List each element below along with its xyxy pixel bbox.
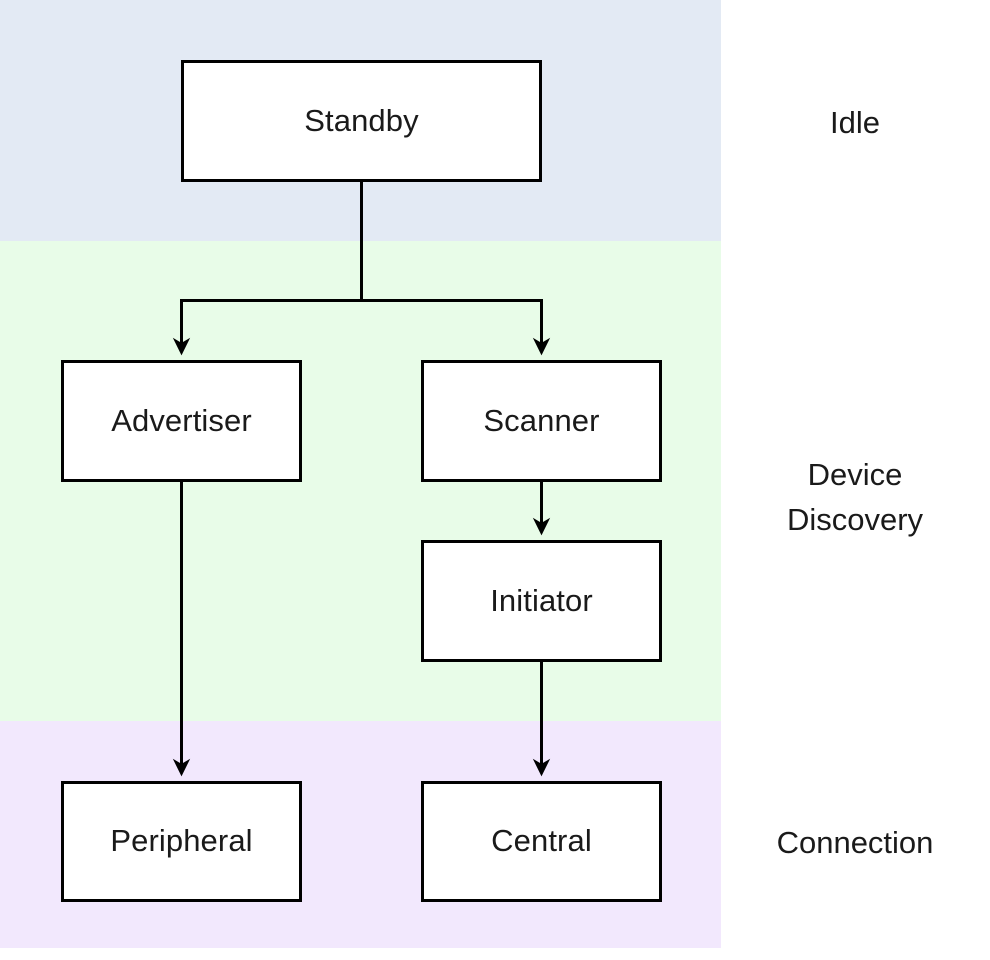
node-standby[interactable]: Standby: [181, 60, 542, 182]
phase-label-idle: Idle: [720, 101, 990, 146]
node-initiator[interactable]: Initiator: [421, 540, 662, 662]
node-central[interactable]: Central: [421, 781, 662, 902]
node-central-label: Central: [491, 824, 592, 858]
node-standby-label: Standby: [304, 104, 418, 138]
node-scanner[interactable]: Scanner: [421, 360, 662, 482]
node-peripheral-label: Peripheral: [110, 824, 252, 858]
node-advertiser-label: Advertiser: [111, 404, 252, 438]
node-peripheral[interactable]: Peripheral: [61, 781, 302, 902]
phase-label-idle-text: Idle: [830, 105, 880, 140]
phase-label-connection: Connection: [720, 821, 990, 866]
phase-label-device-discovery: Device Discovery: [720, 453, 990, 543]
phase-label-device-discovery-line1: Device: [808, 457, 903, 492]
node-scanner-label: Scanner: [483, 404, 599, 438]
node-advertiser[interactable]: Advertiser: [61, 360, 302, 482]
phase-label-connection-text: Connection: [777, 825, 934, 860]
diagram-canvas: Standby Advertiser Scanner Initiator Per…: [0, 0, 990, 960]
node-initiator-label: Initiator: [490, 584, 593, 618]
phase-label-device-discovery-line2: Discovery: [787, 502, 923, 537]
